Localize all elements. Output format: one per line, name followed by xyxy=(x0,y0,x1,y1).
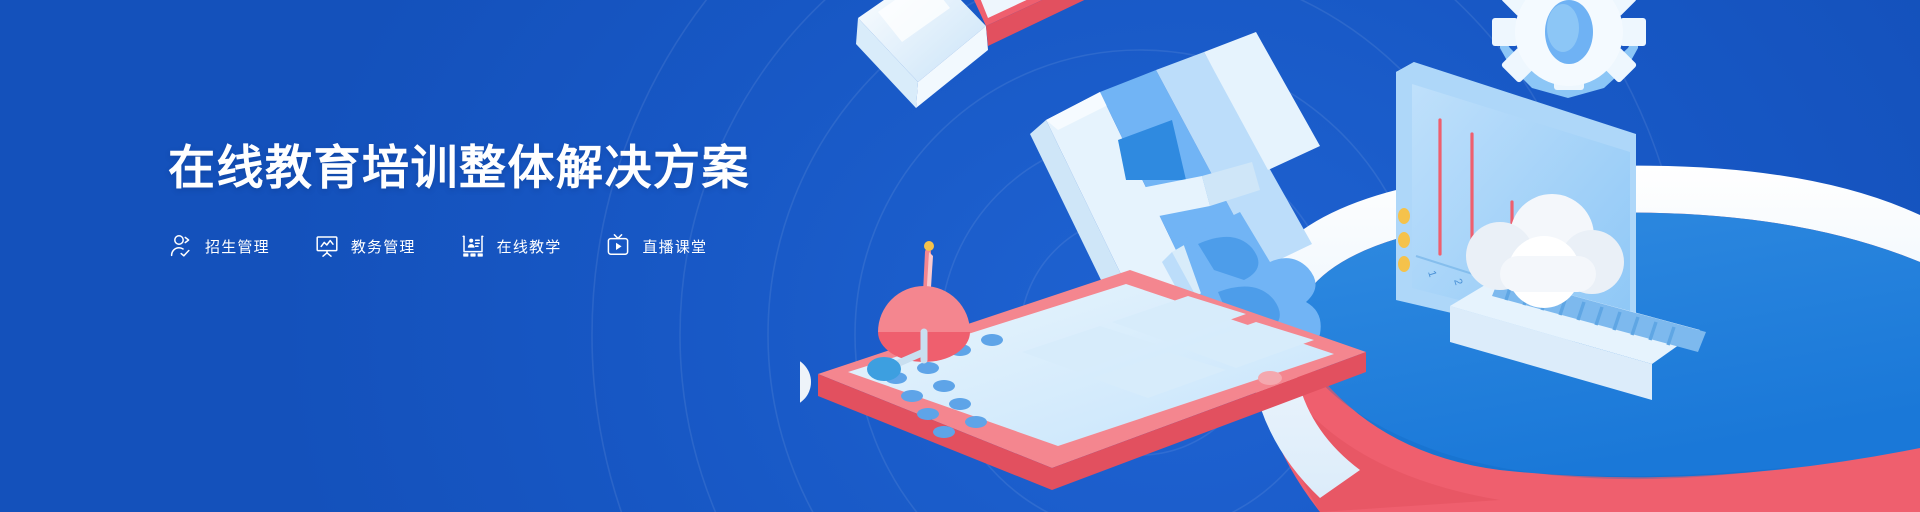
feature-label-enrollment: 招生管理 xyxy=(205,236,270,257)
page-title: 在线教育培训整体解决方案 xyxy=(168,140,750,195)
cloud-small xyxy=(800,330,811,407)
feature-list: 招生管理 教务管理 xyxy=(168,233,750,259)
online-classroom-icon xyxy=(460,233,486,259)
whiteboard-chart-icon xyxy=(314,233,340,259)
feature-label-live-class: 直播课堂 xyxy=(642,236,707,257)
feature-label-academic-affairs: 教务管理 xyxy=(351,236,416,257)
banner-text-block: 在线教育培训整体解决方案 招生管理 xyxy=(168,140,750,259)
feature-item-online-teaching[interactable]: 在线教学 xyxy=(460,233,562,259)
live-video-play-icon xyxy=(605,233,631,259)
education-hero-banner: 1 2 3 4 5 6 xyxy=(0,0,1920,512)
feature-item-enrollment[interactable]: 招生管理 xyxy=(168,233,270,259)
open-book xyxy=(856,0,1122,108)
feature-item-academic-affairs[interactable]: 教务管理 xyxy=(314,233,416,259)
feature-item-live-class[interactable]: 直播课堂 xyxy=(605,233,707,259)
gear-3d xyxy=(1492,0,1646,98)
education-illustration: 1 2 3 4 5 6 xyxy=(800,0,1920,512)
feature-label-online-teaching: 在线教学 xyxy=(497,236,562,257)
enrollment-user-icon xyxy=(168,233,194,259)
